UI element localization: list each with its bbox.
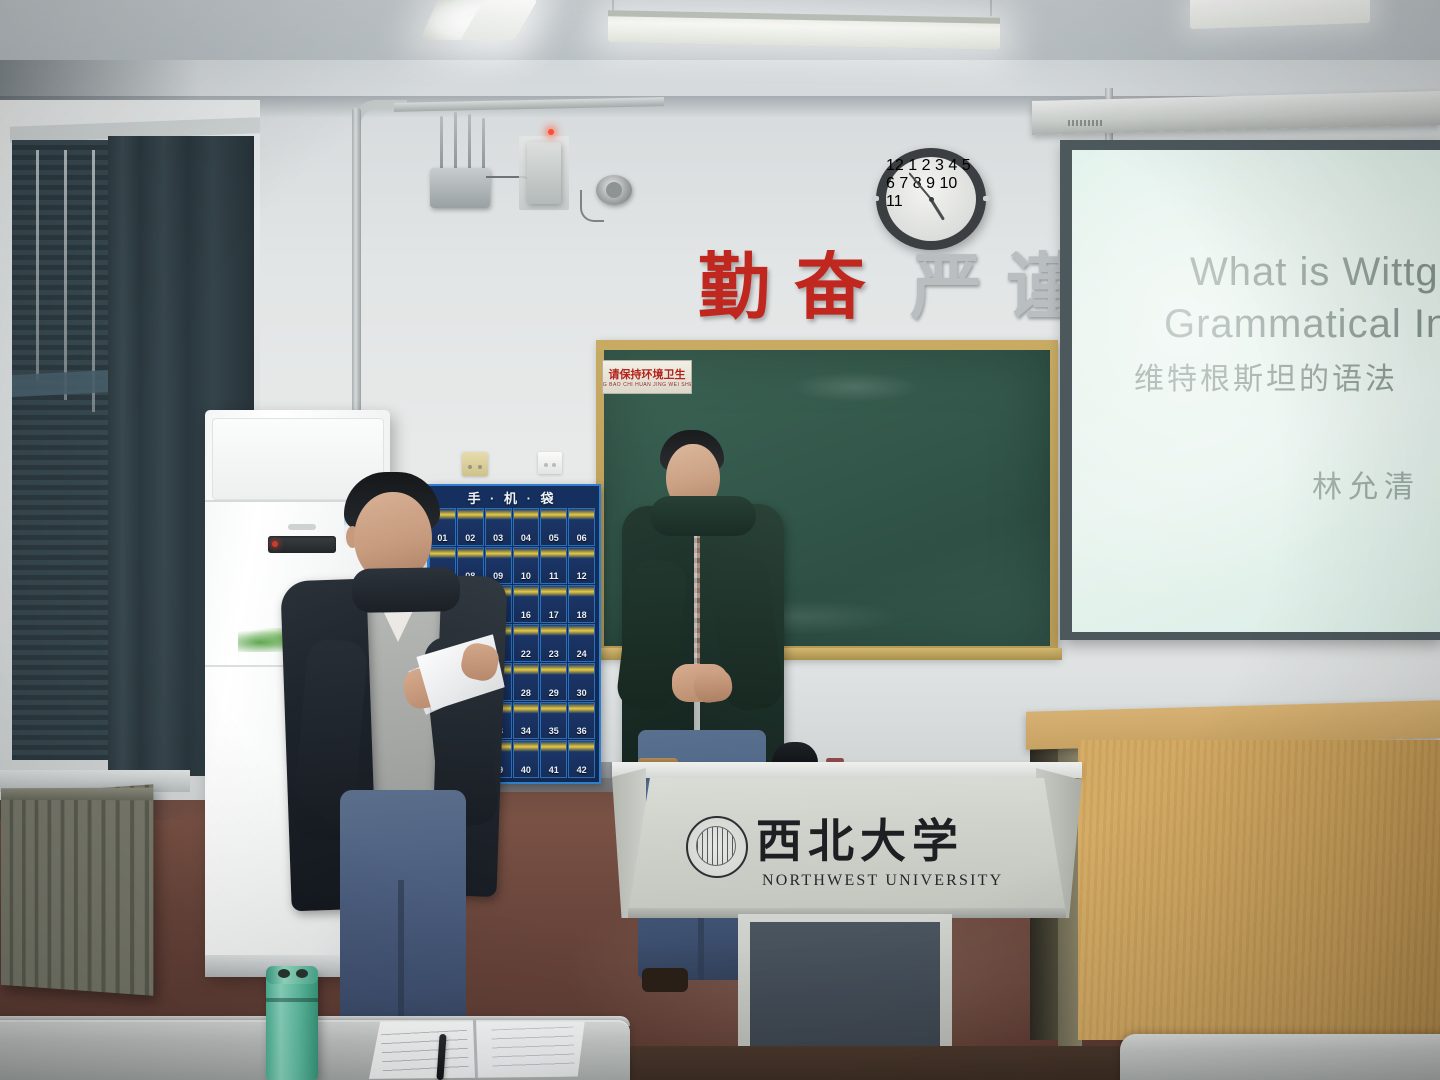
clock-mount (872, 196, 879, 201)
clock-number: 3 (935, 157, 944, 174)
phone-pocket-title: 手 · 机 · 袋 (427, 486, 597, 508)
blind-cord[interactable] (36, 150, 39, 380)
roller-brand-label (1068, 120, 1104, 126)
phone-pocket[interactable]: 06 (568, 508, 595, 546)
speaker-jacket-collar (352, 567, 461, 613)
lecturer-jacket-collar (650, 496, 756, 536)
thermos-cap-hole (296, 969, 308, 978)
notice-sign: 请保持环境卫生 QING BAO CHI HUAN JING WEI SHENG (602, 360, 692, 394)
thermos-band (266, 998, 318, 1002)
wood-grain-texture (1078, 740, 1440, 1040)
clock-number: 4 (948, 157, 957, 174)
clock-number: 11 (886, 193, 903, 210)
wall-motto-silver: 严 谨 (910, 252, 1080, 324)
floor-gap (630, 1046, 1120, 1080)
phone-pocket[interactable]: 11 (540, 547, 567, 585)
clock-number: 6 (886, 175, 895, 192)
phone-pocket[interactable]: 24 (568, 624, 595, 662)
clock-center-pin (929, 197, 934, 202)
light-wire (990, 0, 992, 16)
phone-pocket[interactable]: 42 (568, 740, 595, 778)
conduit-pipe-vertical (352, 108, 361, 418)
clock-number: 10 (939, 175, 957, 192)
phone-pocket[interactable]: 41 (540, 740, 567, 778)
phone-pocket[interactable]: 22 (513, 624, 540, 662)
phone-pocket[interactable]: 28 (513, 663, 540, 701)
clock-hour-hand (930, 199, 945, 221)
phone-pocket[interactable]: 10 (513, 547, 540, 585)
phone-pocket[interactable]: 16 (513, 585, 540, 623)
wall-outlet-white[interactable] (538, 452, 562, 474)
lecturer-shoe (642, 968, 688, 992)
jammer-antenna-icon (482, 118, 485, 172)
power-adapter (527, 142, 561, 204)
thermos-cap-hole (278, 969, 290, 978)
clock-number: 12 (886, 157, 904, 174)
phone-pocket[interactable]: 36 (568, 702, 595, 740)
phone-pocket[interactable]: 12 (568, 547, 595, 585)
chalk-smudge (790, 372, 920, 402)
jammer-antenna-icon (468, 114, 471, 172)
notebook-handwriting (381, 1030, 469, 1078)
phone-pocket[interactable]: 30 (568, 663, 595, 701)
university-seal-inner (696, 826, 736, 866)
classroom-photo: 12 1 2 3 4 5 6 7 8 9 10 11 勤 奋 严 谨 请保持环境… (0, 0, 1440, 1080)
jammer-antenna-icon (440, 116, 443, 172)
podium-university-name-cn: 西北大学 (756, 812, 1026, 872)
phone-pocket[interactable]: 18 (568, 585, 595, 623)
phone-pocket[interactable]: 23 (540, 624, 567, 662)
blind-cord[interactable] (64, 150, 67, 400)
signal-jammer (430, 168, 490, 208)
power-led-icon (548, 129, 554, 135)
phone-pocket[interactable]: 02 (457, 508, 484, 546)
phone-pocket[interactable]: 17 (540, 585, 567, 623)
ac-brand-logo (288, 524, 316, 530)
notice-sign-pinyin: QING BAO CHI HUAN JING WEI SHENG (602, 382, 692, 388)
notice-sign-cn: 请保持环境卫生 (609, 366, 686, 382)
ac-power-led-icon (272, 541, 278, 547)
phone-pocket[interactable]: 03 (485, 508, 512, 546)
wall-motto-red: 勤 奋 (698, 252, 868, 324)
phone-pocket[interactable]: 34 (513, 702, 540, 740)
radiator (1, 784, 153, 996)
phone-pocket[interactable]: 04 (513, 508, 540, 546)
clock-number: 5 (962, 157, 971, 174)
notebook-handwriting (491, 1027, 574, 1070)
clock-number: 2 (922, 157, 931, 174)
thermos-cap[interactable] (266, 966, 318, 984)
speaker-cone (606, 182, 622, 198)
podium-pedestal-panel (750, 922, 940, 1062)
front-desk-right (1120, 1034, 1440, 1080)
podium-top-surface (612, 762, 1082, 778)
screen-glare (1072, 150, 1440, 632)
clock-number: 9 (926, 175, 935, 192)
thermos-bottle[interactable] (266, 970, 318, 1080)
radiator-top (1, 788, 153, 801)
phone-pocket[interactable]: 29 (540, 663, 567, 701)
clock-number: 7 (899, 175, 908, 192)
jammer-antenna-icon (454, 112, 457, 172)
podium-university-name-en: NORTHWEST UNIVERSITY (762, 872, 1022, 890)
wall-outlet-beige[interactable] (462, 452, 488, 476)
ac-display-panel[interactable] (268, 536, 336, 553)
clock-mount (983, 196, 990, 201)
phone-pocket[interactable]: 05 (540, 508, 567, 546)
phone-pocket[interactable]: 40 (513, 740, 540, 778)
phone-pocket[interactable]: 35 (540, 702, 567, 740)
